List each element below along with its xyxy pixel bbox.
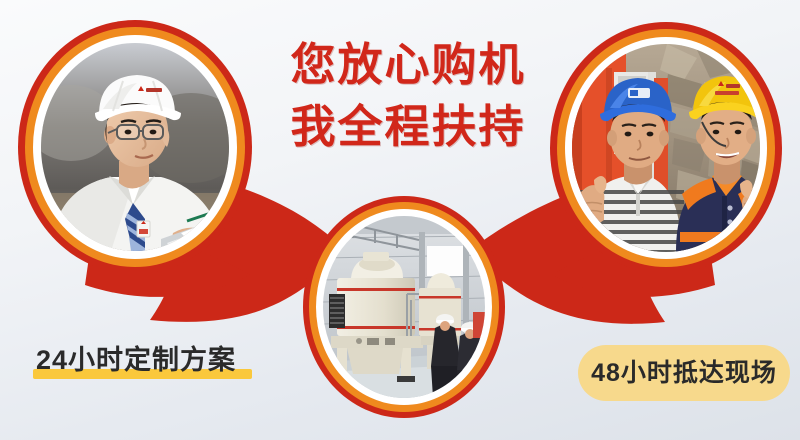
headline: 您放心购机 我全程扶持 — [268, 34, 548, 158]
photo-circle-workers — [550, 22, 782, 274]
photo-factory — [323, 216, 485, 398]
caption-right-pill: 48小时抵达现场 — [578, 345, 790, 401]
photo-circle-engineer — [18, 20, 252, 274]
caption-right-text: 48小时抵达现场 — [578, 345, 790, 401]
photo-engineer — [41, 43, 229, 251]
caption-left: 24小时定制方案 — [36, 342, 236, 378]
headline-line-1: 您放心购机 — [268, 34, 548, 96]
promo-banner: 您放心购机 我全程扶持 24小时定制方案 48小时抵达现场 — [0, 0, 800, 440]
headline-line-2: 我全程扶持 — [268, 96, 548, 158]
photo-circle-factory — [303, 196, 505, 418]
photo-workers — [572, 44, 760, 252]
caption-left-text: 24小时定制方案 — [36, 342, 236, 378]
